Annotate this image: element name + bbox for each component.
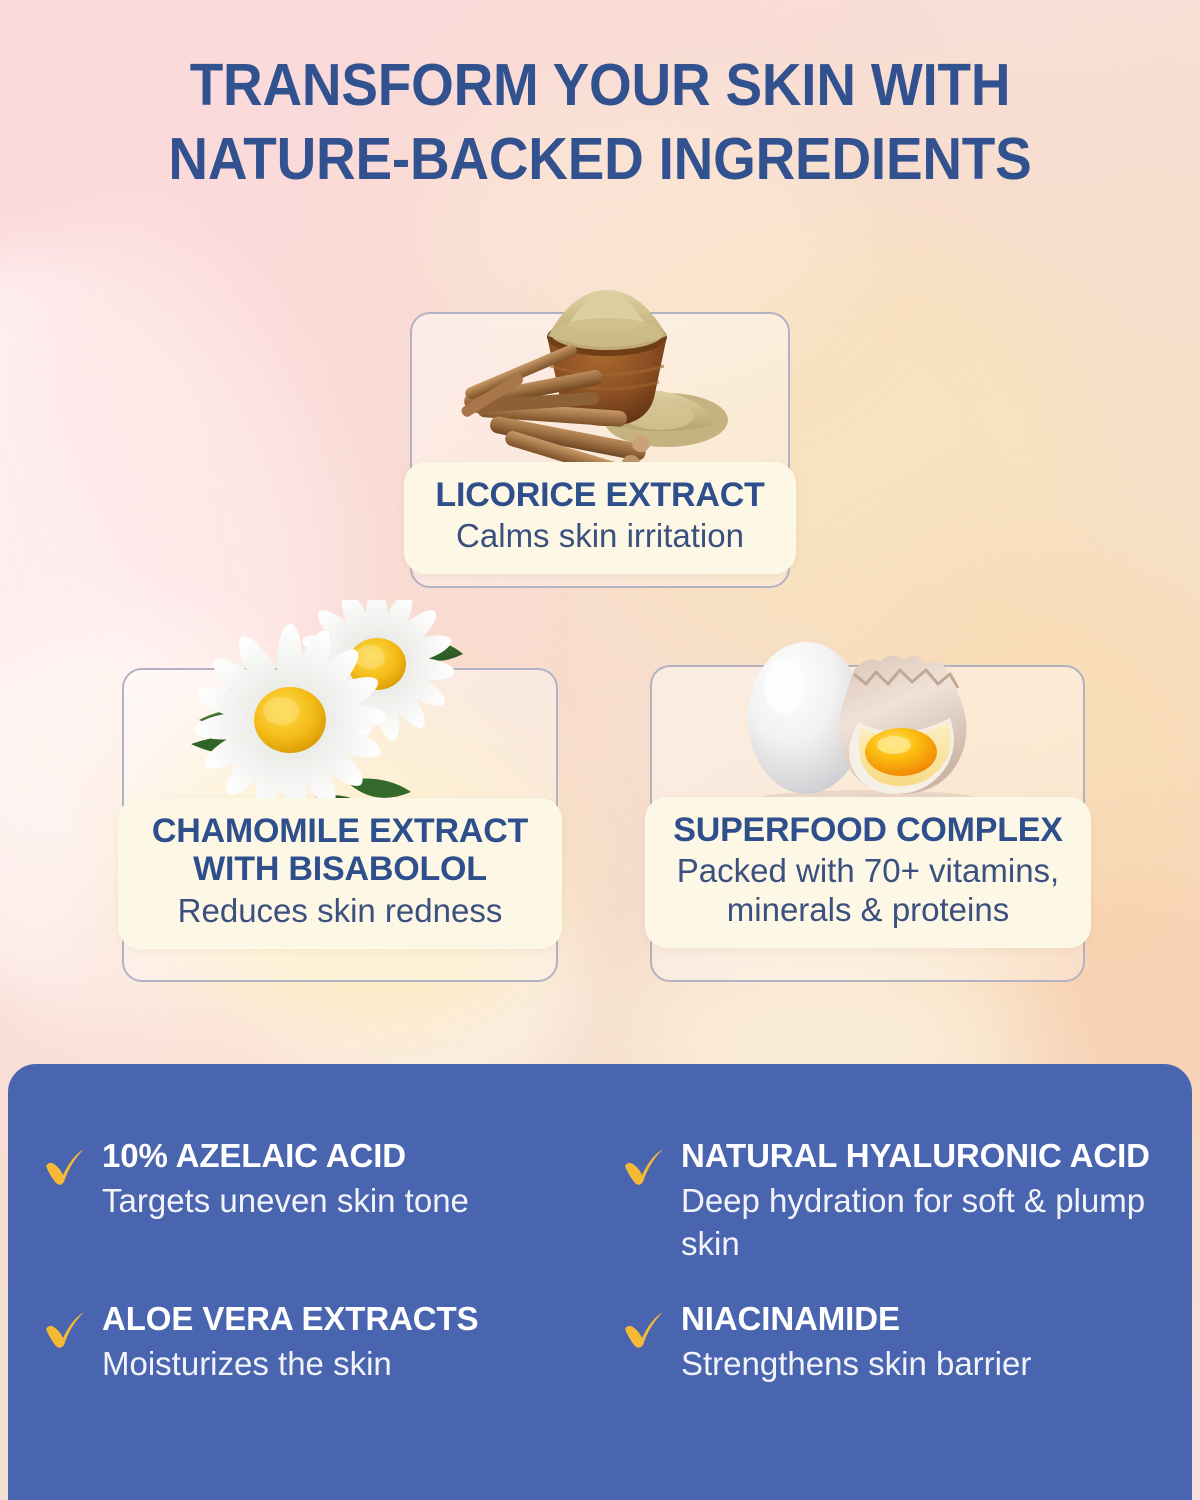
check-icon: [42, 1305, 88, 1351]
benefit-description-hyaluronic-acid: Deep hydration for soft & plump skin: [681, 1180, 1158, 1264]
ingredient-description-chamomile: Reduces skin redness: [134, 892, 546, 931]
check-icon: [621, 1142, 667, 1188]
ingredient-description-licorice: Calms skin irritation: [420, 517, 780, 556]
benefit-item-aloe-vera: ALOE VERA EXTRACTS Moisturizes the skin: [42, 1301, 597, 1386]
ingredient-description-superfood-line-1: Packed with 70+ vitamins,: [661, 852, 1075, 891]
benefit-item-azelaic-acid: 10% AZELAIC ACID Targets uneven skin ton…: [42, 1138, 597, 1265]
ingredient-title-licorice: LICORICE EXTRACT: [420, 476, 780, 514]
check-icon: [621, 1305, 667, 1351]
ingredient-title-chamomile-line-2: WITH BISABOLOL: [134, 850, 546, 888]
benefit-description-azelaic-acid: Targets uneven skin tone: [102, 1180, 469, 1222]
page-title-line-1: TRANSFORM YOUR SKIN WITH: [42, 48, 1158, 122]
benefits-grid: 10% AZELAIC ACID Targets uneven skin ton…: [42, 1138, 1158, 1385]
ingredient-label-superfood: SUPERFOOD COMPLEX Packed with 70+ vitami…: [645, 797, 1091, 948]
benefit-text-niacinamide: NIACINAMIDE Strengthens skin barrier: [681, 1301, 1031, 1386]
benefit-title-hyaluronic-acid: NATURAL HYALURONIC ACID: [681, 1138, 1158, 1174]
ingredient-label-licorice: LICORICE EXTRACT Calms skin irritation: [404, 462, 796, 574]
check-icon: [42, 1142, 88, 1188]
ingredient-title-superfood: SUPERFOOD COMPLEX: [661, 811, 1075, 849]
benefit-text-hyaluronic-acid: NATURAL HYALURONIC ACID Deep hydration f…: [681, 1138, 1158, 1265]
ingredient-title-chamomile-line-1: CHAMOMILE EXTRACT: [134, 812, 546, 850]
benefit-description-aloe-vera: Moisturizes the skin: [102, 1343, 479, 1385]
benefits-panel: 10% AZELAIC ACID Targets uneven skin ton…: [8, 1064, 1192, 1500]
benefit-item-hyaluronic-acid: NATURAL HYALURONIC ACID Deep hydration f…: [603, 1138, 1158, 1265]
benefit-title-azelaic-acid: 10% AZELAIC ACID: [102, 1138, 469, 1174]
ingredient-description-superfood-line-2: minerals & proteins: [661, 891, 1075, 930]
benefit-description-niacinamide: Strengthens skin barrier: [681, 1343, 1031, 1385]
ingredient-label-chamomile: CHAMOMILE EXTRACT WITH BISABOLOL Reduces…: [118, 798, 562, 949]
benefit-title-niacinamide: NIACINAMIDE: [681, 1301, 1031, 1337]
page-title: TRANSFORM YOUR SKIN WITH NATURE-BACKED I…: [42, 48, 1158, 197]
benefit-item-niacinamide: NIACINAMIDE Strengthens skin barrier: [603, 1301, 1158, 1386]
benefit-title-aloe-vera: ALOE VERA EXTRACTS: [102, 1301, 479, 1337]
benefit-text-azelaic-acid: 10% AZELAIC ACID Targets uneven skin ton…: [102, 1138, 469, 1223]
page-title-line-2: NATURE-BACKED INGREDIENTS: [42, 122, 1158, 196]
benefit-text-aloe-vera: ALOE VERA EXTRACTS Moisturizes the skin: [102, 1301, 479, 1386]
